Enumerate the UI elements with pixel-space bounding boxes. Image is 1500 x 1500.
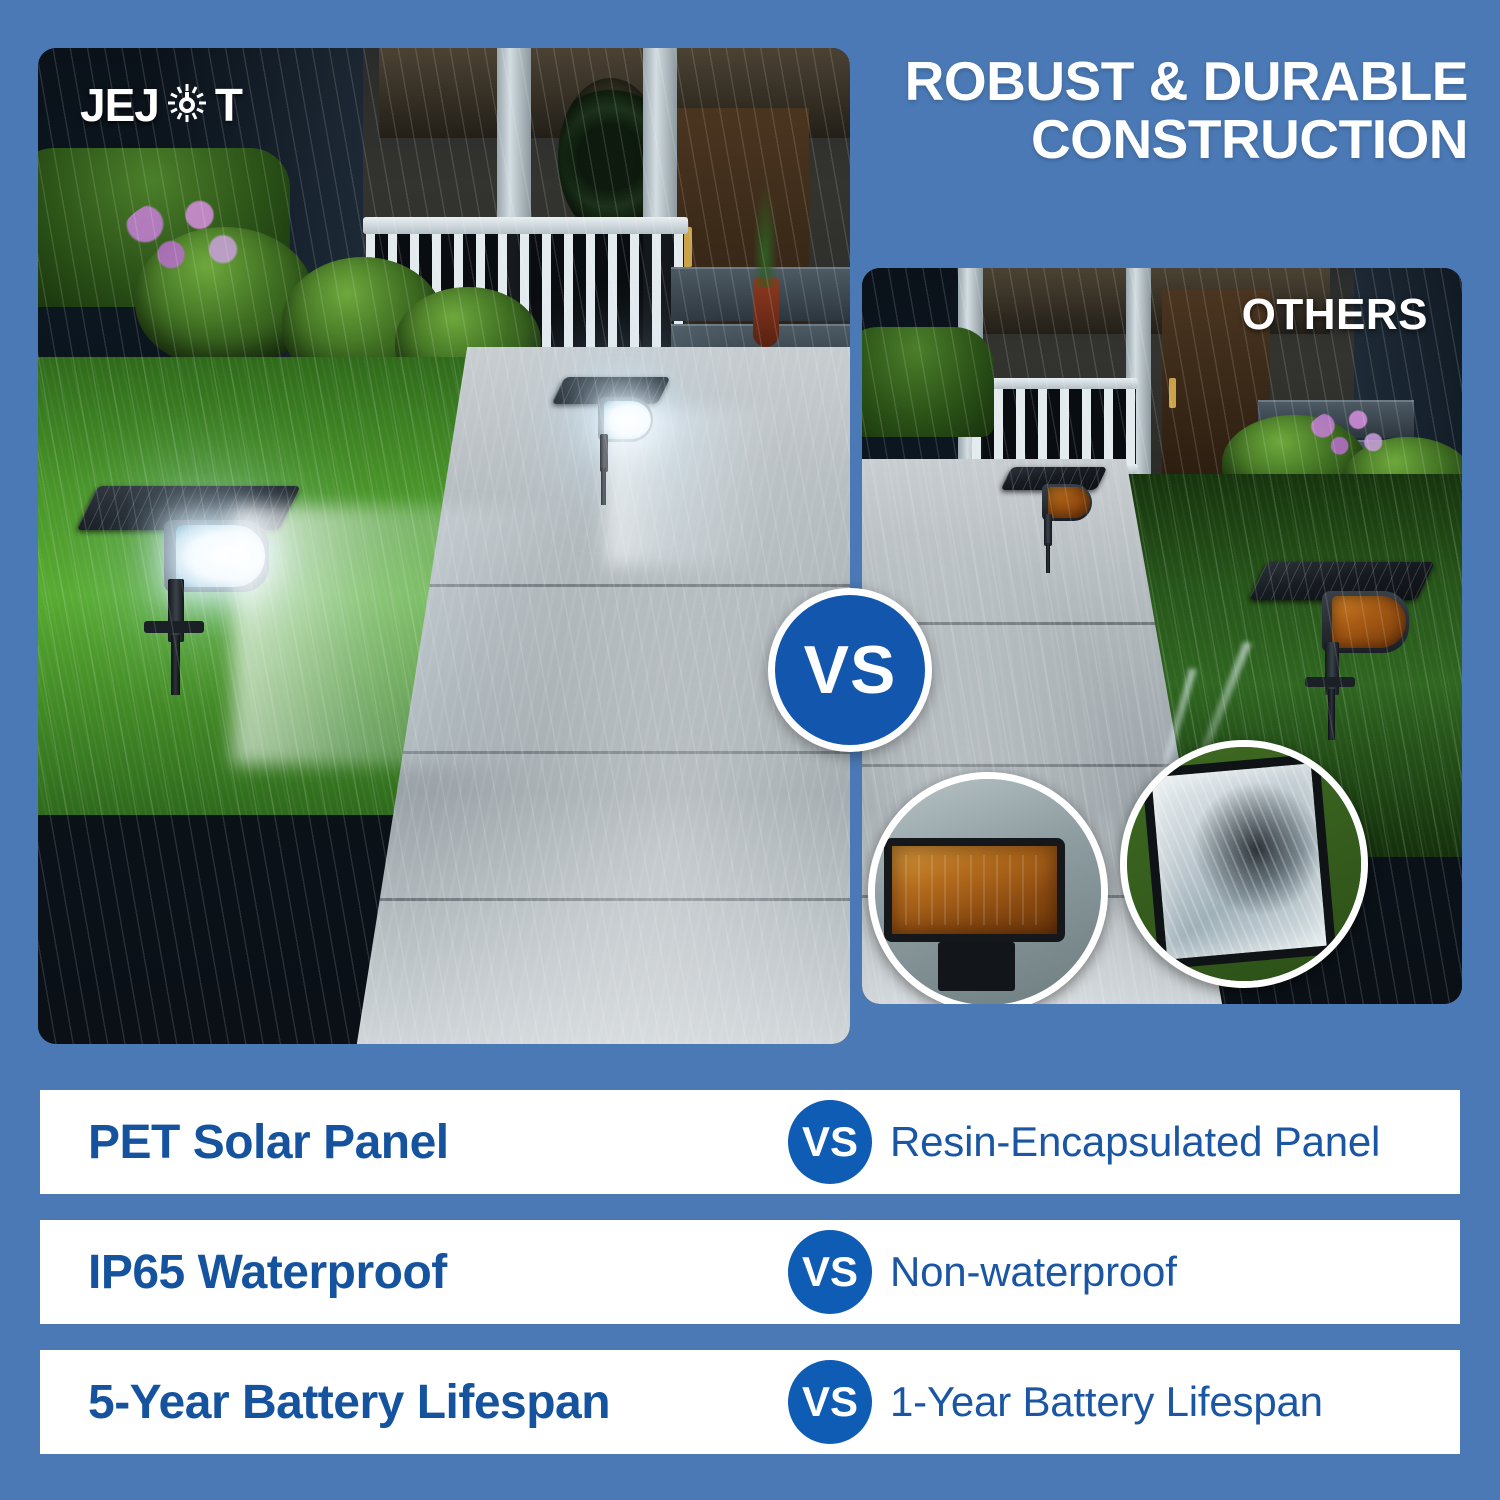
porch-plant xyxy=(752,177,780,287)
comparison-table: PET Solar Panel VS Resin-Encapsulated Pa… xyxy=(40,1090,1460,1454)
flower-cluster-right xyxy=(1306,408,1390,467)
rusted-fixture-inset xyxy=(868,772,1108,1004)
feature-theirs: Non-waterproof xyxy=(780,1248,1460,1296)
headline-line-1: ROBUST & DURABLE xyxy=(905,50,1468,112)
others-spotlight-far xyxy=(1006,467,1102,533)
feature-ours: PET Solar Panel xyxy=(40,1115,780,1170)
row-vs-badge: VS xyxy=(784,1096,876,1188)
comparison-row: PET Solar Panel VS Resin-Encapsulated Pa… xyxy=(40,1090,1460,1194)
feature-ours: 5-Year Battery Lifespan xyxy=(40,1375,780,1430)
product-photo-jejot: JEJ T xyxy=(38,48,850,1044)
feature-theirs: Resin-Encapsulated Panel xyxy=(780,1118,1460,1166)
jejot-spotlight-far xyxy=(558,377,664,457)
porch-planter xyxy=(753,277,779,347)
center-vs-badge: VS xyxy=(768,588,932,752)
headline-line-2: CONSTRUCTION xyxy=(860,110,1468,168)
frosted-panel-inset xyxy=(1120,740,1368,988)
hedge-right xyxy=(862,327,994,437)
others-spotlight-near xyxy=(1258,562,1426,672)
sunburst-icon xyxy=(167,83,207,128)
flower-cluster xyxy=(119,197,249,287)
brand-logo: JEJ T xyxy=(80,78,242,132)
brand-logo-text-t: T xyxy=(215,78,242,132)
balustrade-top-rail xyxy=(363,217,688,233)
page-headline: ROBUST & DURABLE CONSTRUCTION xyxy=(860,52,1468,169)
feature-ours: IP65 Waterproof xyxy=(40,1245,780,1300)
comparison-row: IP65 Waterproof VS Non-waterproof xyxy=(40,1220,1460,1324)
others-label: OTHERS xyxy=(1242,290,1428,340)
door-handle-icon-right xyxy=(1169,378,1176,407)
feature-theirs: 1-Year Battery Lifespan xyxy=(780,1378,1460,1426)
jejot-spotlight-near xyxy=(87,486,290,615)
brand-logo-text-je: JEJ xyxy=(80,78,159,132)
comparison-row: 5-Year Battery Lifespan VS 1-Year Batter… xyxy=(40,1350,1460,1454)
row-vs-badge: VS xyxy=(784,1226,876,1318)
row-vs-badge: VS xyxy=(784,1356,876,1448)
product-photo-others: OTHERS xyxy=(862,268,1462,1004)
